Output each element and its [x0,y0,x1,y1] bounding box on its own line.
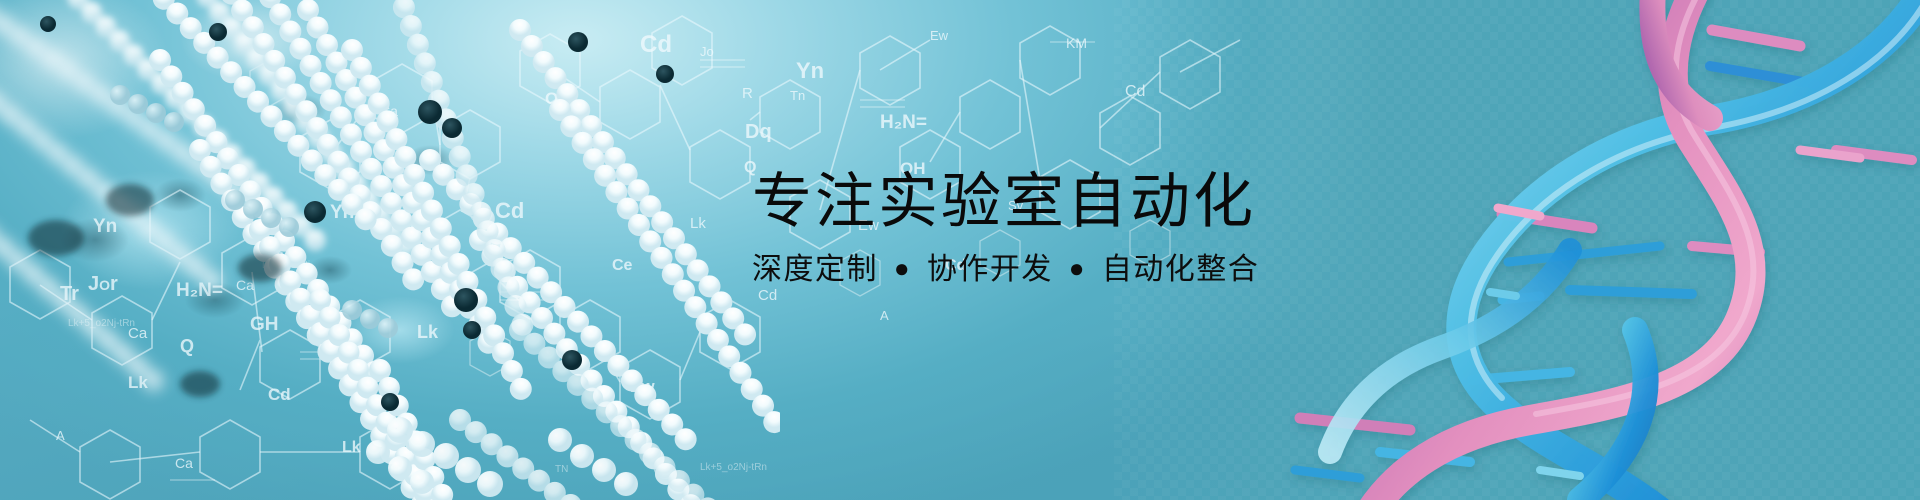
hero-text-block: 专注实验室自动化 深度定制 ● 协作开发 ● 自动化整合 [752,170,1472,288]
svg-text:H₂N=: H₂N= [880,112,927,133]
subtitle-part-2: 协作开发 [927,253,1053,286]
bullet-separator-1: ● [888,253,917,283]
svg-text:KM: KM [1066,35,1087,51]
svg-text:Cd: Cd [1125,83,1145,100]
page-title: 专注实验室自动化 [752,170,1472,234]
svg-text:Ew: Ew [930,28,949,43]
hero-subtitle: 深度定制 ● 协作开发 ● 自动化整合 [752,252,1472,288]
bullet-separator-2: ● [1063,253,1092,283]
svg-text:A: A [880,308,889,323]
svg-text:Tn: Tn [790,88,805,103]
subtitle-part-1: 深度定制 [752,253,878,286]
subtitle-part-3: 自动化整合 [1102,253,1260,286]
svg-text:Yn: Yn [796,58,824,83]
hero-banner: Cd Jo Tn Yn Dq H₂N= R OH OH Cd Yn Yn JOr… [0,0,1920,500]
bead-dna-strands [0,0,780,500]
